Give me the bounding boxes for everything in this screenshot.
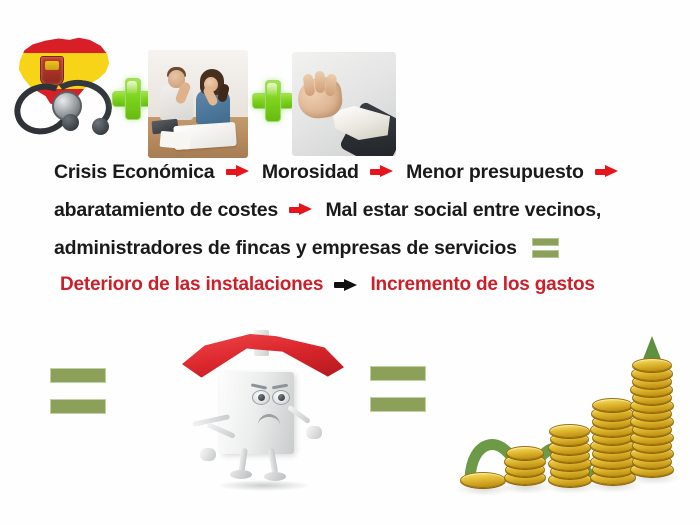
house-hand-right: [306, 426, 322, 439]
black-arrow-icon: [334, 279, 358, 292]
text-line-2: abaratamiento de costes Mal estar social…: [0, 190, 700, 228]
worried-couple-bills-image: [148, 50, 248, 158]
coin: [632, 358, 672, 372]
arrow-head: [236, 165, 249, 177]
red-arrow-icon-4: [289, 203, 313, 216]
finger-2: [315, 71, 326, 93]
equals-bar-top: [370, 366, 426, 381]
equals-sign-left: [50, 368, 106, 414]
equals-bar-bottom: [370, 397, 426, 412]
stethoscope-earpiece-1: [62, 114, 79, 131]
house-eye-left: [252, 390, 270, 405]
equals-bar-top: [50, 368, 106, 383]
coin: [549, 424, 590, 438]
text-incremento-gastos: Incremento de los gastos: [370, 274, 594, 295]
house-foot-right: [264, 472, 286, 481]
text-menor-presupuesto: Menor presupuesto: [406, 161, 584, 183]
sad-house-character-image: [178, 330, 348, 495]
bills-papers-prop: [173, 122, 237, 150]
text-deterioro-instalaciones: Deterioro de las instalaciones: [60, 274, 323, 295]
arrow-head: [344, 279, 357, 291]
flag-stripe-red-top: [18, 34, 110, 53]
finger-1: [303, 73, 316, 96]
stethoscope-earpiece-2: [92, 118, 109, 135]
plus-sign-2: [252, 80, 292, 120]
empty-pocket-hand-image: [292, 52, 396, 156]
plus-bar-vertical: [125, 78, 141, 120]
red-arrow-icon-3: [595, 165, 620, 178]
equals-bar-bottom: [532, 250, 559, 258]
text-morosidad: Morosidad: [262, 161, 359, 183]
house-foot-left: [230, 470, 252, 479]
slide-text-block: Crisis Económica Morosidad Menor presupu…: [0, 152, 700, 304]
arrow-head: [605, 165, 618, 177]
text-line-1: Crisis Económica Morosidad Menor presupu…: [0, 152, 700, 190]
stethoscope-icon: [12, 74, 116, 136]
plus-bar-vertical: [265, 80, 281, 122]
equals-bar-bottom: [50, 399, 106, 414]
red-arrow-icon-2: [370, 165, 394, 178]
text-mal-estar-social: Mal estar social entre vecinos,: [326, 199, 602, 221]
text-line-4: Deterioro de las instalaciones Increment…: [0, 266, 700, 304]
green-equals-icon-inline: [532, 237, 559, 259]
text-line-3: administradores de fincas y empresas de …: [0, 228, 700, 266]
text-administradores-empresas: administradores de fincas y empresas de …: [54, 237, 517, 259]
house-eye-right: [272, 390, 290, 405]
top-image-row: [0, 22, 420, 140]
rising-coin-stacks-image: [448, 322, 678, 502]
text-abaratamiento-de-costes: abaratamiento de costes: [54, 199, 278, 221]
equals-sign-right: [370, 366, 426, 412]
text-crisis-economica: Crisis Económica: [54, 161, 214, 183]
house-hand-left: [200, 448, 216, 461]
coin: [506, 446, 544, 460]
equals-bar-top: [532, 238, 559, 246]
spain-map-stethoscope-image: [8, 26, 120, 138]
house-ground-shadow: [218, 480, 310, 491]
plus-sign-1: [112, 78, 152, 118]
coin: [592, 398, 633, 412]
arrow-head: [299, 203, 312, 215]
red-arrow-icon-1: [226, 165, 250, 178]
arrow-head: [380, 165, 393, 177]
